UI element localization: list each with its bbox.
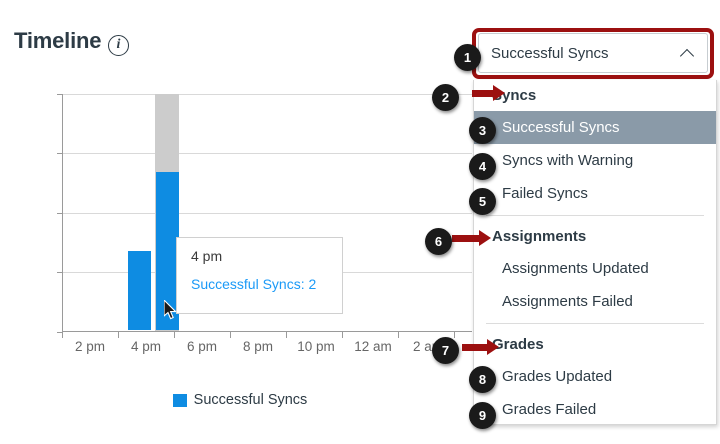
annotation-badge-9: 9 — [469, 402, 496, 429]
menu-separator — [486, 323, 704, 324]
x-tick-mark — [286, 332, 287, 338]
annotation-badge-1: 1 — [454, 44, 481, 71]
x-axis-label-1: 4 pm — [131, 339, 161, 354]
metric-select-value: Successful Syncs — [491, 45, 681, 62]
x-tick-mark — [62, 332, 63, 338]
annotation-arrow-7 — [462, 344, 488, 351]
menu-separator — [486, 215, 704, 216]
x-tick-mark — [454, 332, 455, 338]
screenshot-root: Timeline i 3 2.25 1.5 0.75 0 4 pm — [0, 0, 720, 444]
x-axis-label-0: 2 pm — [75, 339, 105, 354]
timeline-chart: 3 2.25 1.5 0.75 0 4 pm Successful Syncs:… — [0, 85, 480, 375]
menu-item-failed-syncs[interactable]: Failed Syncs — [474, 177, 716, 210]
annotation-arrow-6 — [452, 235, 480, 242]
gridline — [63, 153, 472, 154]
annotation-arrow-2 — [472, 90, 494, 97]
annotation-badge-6: 6 — [425, 228, 452, 255]
info-icon[interactable]: i — [108, 35, 129, 56]
menu-group-assignments: Assignments — [474, 221, 716, 252]
bar-3pm[interactable] — [128, 251, 151, 330]
metric-select-menu[interactable]: Syncs Successful Syncs Syncs with Warnin… — [473, 80, 717, 425]
page-bottom-edge — [0, 436, 720, 444]
annotation-badge-4: 4 — [469, 153, 496, 180]
menu-item-assignments-updated[interactable]: Assignments Updated — [474, 252, 716, 285]
x-tick-mark — [342, 332, 343, 338]
mouse-cursor — [164, 300, 178, 320]
menu-item-syncs-with-warning[interactable]: Syncs with Warning — [474, 144, 716, 177]
annotation-badge-8: 8 — [469, 366, 496, 393]
annotation-badge-2: 2 — [432, 84, 459, 111]
x-axis-label-5: 12 am — [354, 339, 392, 354]
annotation-badge-3: 3 — [469, 117, 496, 144]
tooltip-title: 4 pm — [191, 248, 328, 264]
gridline — [63, 213, 472, 214]
page-title: Timeline — [14, 28, 101, 54]
menu-item-successful-syncs[interactable]: Successful Syncs — [474, 111, 716, 144]
chart-legend: Successful Syncs — [0, 392, 480, 408]
annotation-badge-5: 5 — [469, 188, 496, 215]
plot-area[interactable]: 4 pm Successful Syncs: 2 — [62, 94, 472, 332]
menu-item-assignments-failed[interactable]: Assignments Failed — [474, 285, 716, 318]
x-tick-mark — [118, 332, 119, 338]
tooltip-value: Successful Syncs: 2 — [191, 276, 328, 292]
menu-item-grades-failed[interactable]: Grades Failed — [474, 393, 716, 425]
x-tick-mark — [174, 332, 175, 338]
menu-group-grades: Grades — [474, 329, 716, 360]
x-tick-mark — [230, 332, 231, 338]
chart-tooltip: 4 pm Successful Syncs: 2 — [176, 237, 343, 314]
menu-group-syncs: Syncs — [474, 80, 716, 111]
menu-item-grades-updated[interactable]: Grades Updated — [474, 360, 716, 393]
legend-label: Successful Syncs — [194, 392, 308, 408]
x-axis-label-4: 10 pm — [297, 339, 335, 354]
legend-swatch-icon — [173, 394, 187, 407]
metric-select-trigger[interactable]: Successful Syncs — [478, 33, 708, 73]
x-tick-mark — [398, 332, 399, 338]
annotation-badge-7: 7 — [432, 337, 459, 364]
x-axis-label-2: 6 pm — [187, 339, 217, 354]
x-axis-label-3: 8 pm — [243, 339, 273, 354]
chevron-up-icon[interactable] — [681, 46, 695, 60]
metric-select-wrapper[interactable]: Successful Syncs — [478, 33, 708, 73]
gridline — [63, 94, 472, 95]
